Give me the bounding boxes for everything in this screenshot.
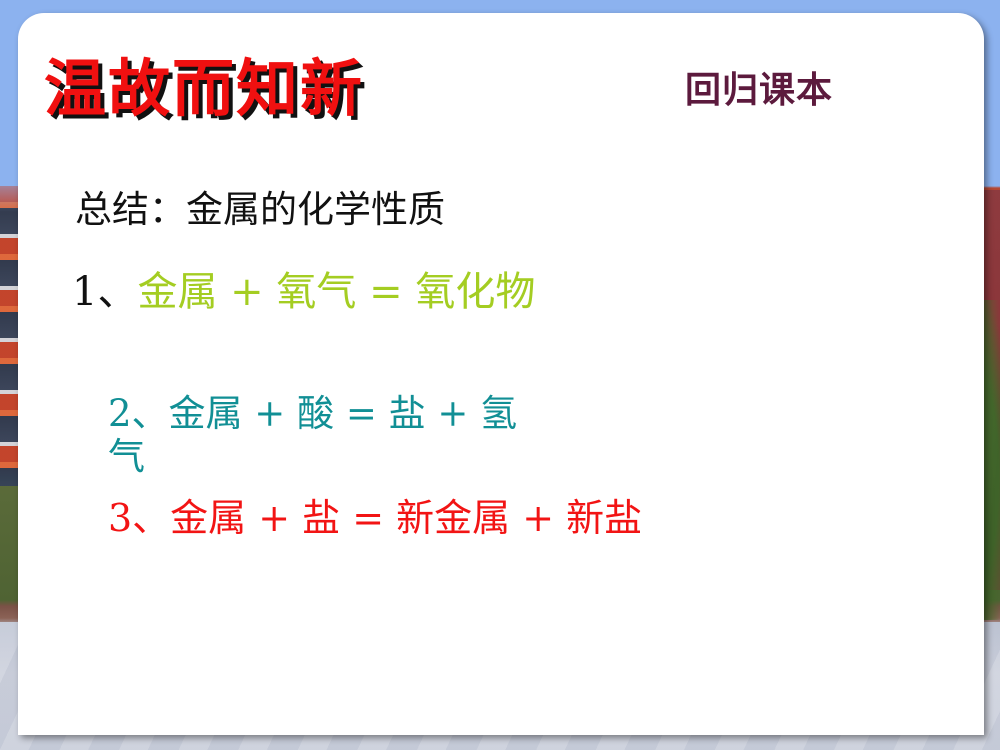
equation-1-text: 金属 + 氧气 = 氧化物 bbox=[137, 269, 535, 315]
equation-line-3: 3、金属 + 盐 = 新金属 + 新盐 bbox=[108, 497, 668, 541]
slide-subtitle: 回归课本 bbox=[685, 61, 833, 113]
presentation-slide: 温故而知新 回归课本 总结：金属的化学性质 1、金属 + 氧气 = 氧化物 2、… bbox=[0, 0, 1000, 750]
content-panel: 温故而知新 回归课本 总结：金属的化学性质 1、金属 + 氧气 = 氧化物 2、… bbox=[18, 13, 984, 735]
equation-1-number: 1、 bbox=[72, 269, 137, 315]
equation-line-2: 2、金属 + 酸 = 盐 + 氢气 bbox=[108, 393, 538, 478]
equation-line-1: 1、金属 + 氧气 = 氧化物 bbox=[72, 271, 535, 313]
summary-heading: 总结：金属的化学性质 bbox=[75, 179, 445, 233]
slide-title: 温故而知新 bbox=[44, 38, 364, 128]
